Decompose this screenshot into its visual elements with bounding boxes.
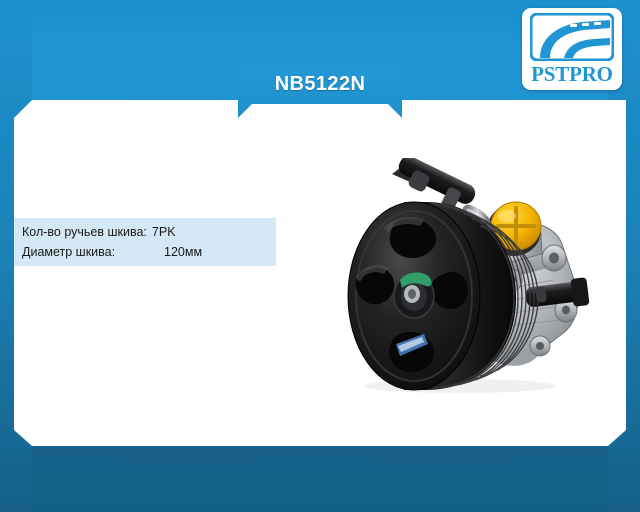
spec-row: Кол-во ручьев шкива: 7PK <box>14 222 276 242</box>
spec-value: 7PK <box>152 222 176 242</box>
spec-label: Диаметр шкива: <box>22 242 150 262</box>
brand-logo: PSTPRO <box>522 8 622 90</box>
road-highway-icon <box>530 13 614 61</box>
product-card: NB5122N PSTPRO Кол-во ручьев шкива: 7PK <box>0 0 640 512</box>
spec-value: 120мм <box>164 242 202 262</box>
part-number-label: NB5122N <box>275 73 366 96</box>
brand-name: PSTPRO <box>522 62 622 87</box>
product-photo-power-steering-pump <box>340 158 602 394</box>
specifications-box: Кол-во ручьев шкива: 7PK Диаметр шкива: … <box>14 218 276 266</box>
spec-label: Кол-во ручьев шкива: <box>22 222 147 242</box>
spec-row: Диаметр шкива: 120мм <box>14 242 276 262</box>
